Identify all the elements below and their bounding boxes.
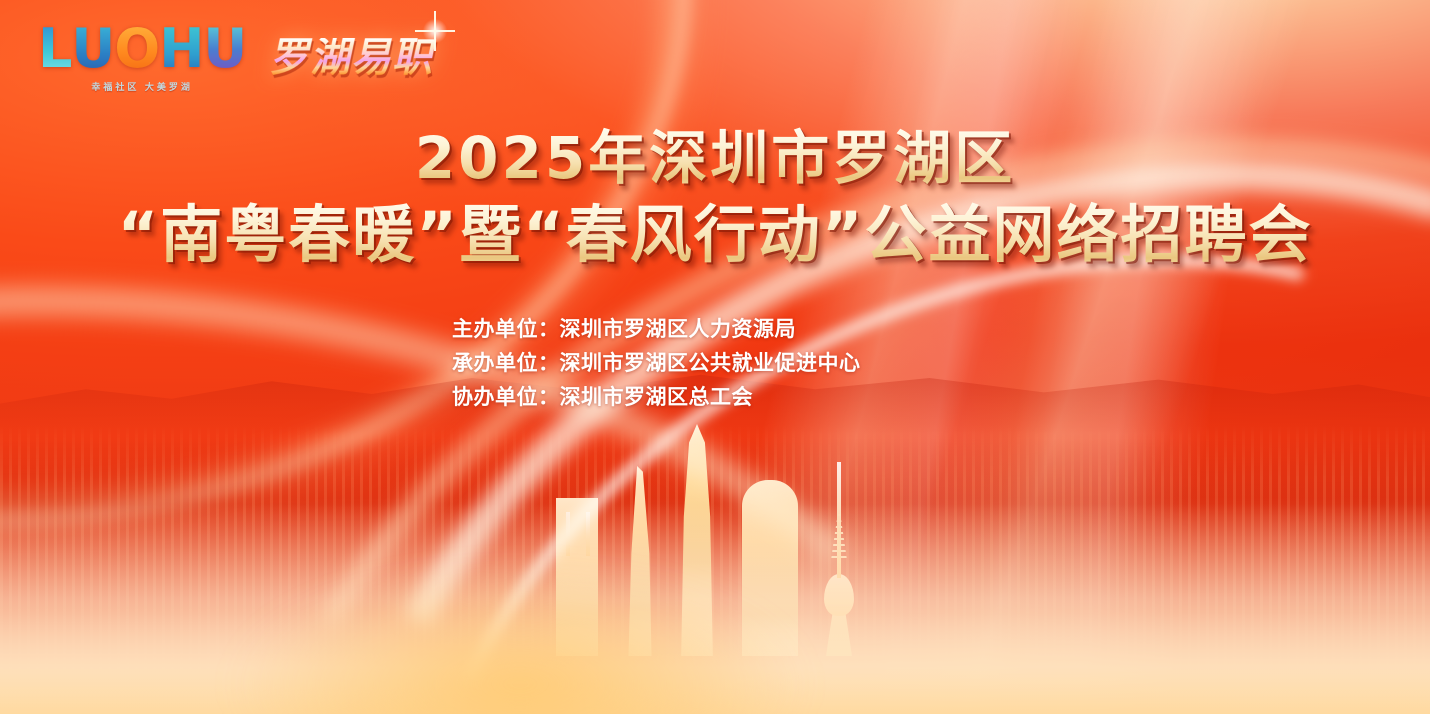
luohu-letter-u1: U [71, 22, 114, 76]
luohu-letter-h: H [159, 22, 203, 76]
organizer-co-host: 协办单位：深圳市罗湖区总工会 [452, 380, 861, 414]
logo-row: L U O H U 幸福社区 大美罗湖 罗湖易职 [38, 22, 436, 93]
luohu-wordmark: L U O H U [38, 22, 246, 76]
luohu-tagline: 幸福社区 大美罗湖 [91, 80, 193, 93]
luohu-letter-o: O [114, 22, 159, 76]
title-block: 2025年深圳市罗湖区 “南粤春暖”暨“春风行动”公益网络招聘会 [0, 126, 1430, 273]
promotional-banner: L U O H U 幸福社区 大美罗湖 罗湖易职 2025年深圳市罗湖区 “南粤… [0, 0, 1430, 714]
title-line-1: 2025年深圳市罗湖区 [0, 126, 1430, 191]
organizer-host: 主办单位：深圳市罗湖区人力资源局 [452, 312, 861, 346]
organizer-operator: 承办单位：深圳市罗湖区公共就业促进中心 [452, 346, 861, 380]
title-line-2: “南粤春暖”暨“春风行动”公益网络招聘会 [0, 197, 1430, 273]
luohu-letter-u2: U [203, 22, 246, 76]
organizer-block: 主办单位：深圳市罗湖区人力资源局 承办单位：深圳市罗湖区公共就业促进中心 协办单… [452, 312, 861, 414]
yizhi-logo: 罗湖易职 [268, 38, 441, 78]
luohu-logo: L U O H U 幸福社区 大美罗湖 [38, 22, 246, 93]
banner-content: L U O H U 幸福社区 大美罗湖 罗湖易职 2025年深圳市罗湖区 “南粤… [0, 0, 1430, 714]
luohu-letter-l: L [38, 22, 71, 76]
sparkle-icon [418, 14, 452, 48]
